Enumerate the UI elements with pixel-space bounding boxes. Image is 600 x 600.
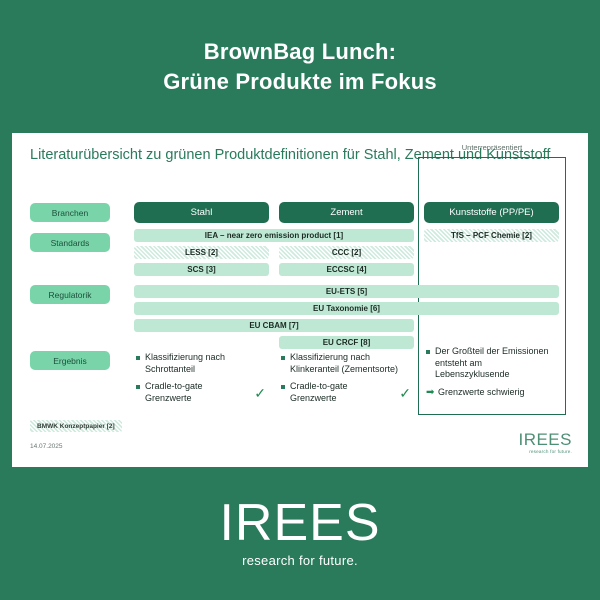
column-header-zement: Zement (279, 202, 414, 223)
slide-corner-logo: IREES research for future. (518, 431, 572, 455)
result-block-zement: Klassifizierung nach Klinkeranteil (Zeme… (281, 352, 411, 410)
result-item: Klassifizierung nach Schrottanteil (136, 352, 266, 375)
row-label-regulatorik: Regulatorik (30, 285, 110, 304)
regulatorik-bar-eu-taxonomie: EU Taxonomie [6] (134, 302, 559, 315)
result-item-text: Cradle-to-gate Grenzwerte (290, 381, 395, 404)
check-icon: ✓ (254, 388, 266, 398)
result-item-text: Cradle-to-gate Grenzwerte (145, 381, 250, 404)
presentation-title-block: BrownBag Lunch: Grüne Produkte im Fokus (0, 0, 600, 133)
check-icon: ✓ (399, 388, 411, 398)
square-bullet-icon (281, 356, 285, 360)
regulatorik-bar-eu-cbam: EU CBAM [7] (134, 319, 414, 332)
brand-logo-mark: IREES (219, 497, 380, 549)
result-item: Klassifizierung nach Klinkeranteil (Zeme… (281, 352, 411, 375)
regulatorik-bar-eu-crcf: EU CRCF [8] (279, 336, 414, 349)
title-line-2: Grüne Produkte im Fokus (163, 67, 437, 97)
column-header-kunststoffe: Kunststoffe (PP/PE) (424, 202, 559, 223)
slide-date: 14.07.2025 (30, 443, 63, 450)
result-block-kunststoffe: Der Großteil der Emissionen entsteht am … (426, 346, 554, 404)
row-label-ergebnis: Ergebnis (30, 351, 110, 370)
result-item: Der Großteil der Emissionen entsteht am … (426, 346, 554, 381)
slide-logo-tagline: research for future. (518, 448, 572, 455)
square-bullet-icon (136, 356, 140, 360)
standards-bar-scs: SCS [3] (134, 263, 269, 276)
result-item: ➡ Grenzwerte schwierig (426, 387, 554, 399)
result-item: Cradle-to-gate Grenzwerte ✓ (136, 381, 266, 404)
standards-bar-less: LESS [2] (134, 246, 269, 259)
square-bullet-icon (136, 385, 140, 389)
row-label-standards: Standards (30, 233, 110, 252)
standards-bar-tfs: TfS – PCF Chemie [2] (424, 229, 559, 242)
square-bullet-icon (281, 385, 285, 389)
row-label-branchen: Branchen (30, 203, 110, 222)
result-item-text: Klassifizierung nach Schrottanteil (145, 352, 266, 375)
result-item-text: Der Großteil der Emissionen entsteht am … (435, 346, 554, 381)
standards-bar-ccc: CCC [2] (279, 246, 414, 259)
arrow-bullet-icon: ➡ (426, 388, 435, 398)
legend-chip-bmwk: BMWK Konzeptpapier [2] (30, 420, 122, 432)
brand-banner: IREES research for future. (0, 467, 600, 600)
result-block-stahl: Klassifizierung nach Schrottanteil Cradl… (136, 352, 266, 410)
standards-bar-eccsc: ECCSC [4] (279, 263, 414, 276)
underrepresented-annotation: Unterrepräsentiert (418, 143, 566, 152)
slide-logo-mark: IREES (518, 431, 572, 448)
column-header-stahl: Stahl (134, 202, 269, 223)
brand-logo-tagline: research for future. (242, 552, 358, 570)
result-item: Cradle-to-gate Grenzwerte ✓ (281, 381, 411, 404)
slide-card: Literaturübersicht zu grünen Produktdefi… (12, 133, 588, 467)
result-item-text: Grenzwerte schwierig (438, 387, 554, 399)
title-line-1: BrownBag Lunch: (204, 37, 396, 67)
standards-bar-iea: IEA – near zero emission product [1] (134, 229, 414, 242)
result-item-text: Klassifizierung nach Klinkeranteil (Zeme… (290, 352, 411, 375)
square-bullet-icon (426, 350, 430, 354)
regulatorik-bar-eu-ets: EU-ETS [5] (134, 285, 559, 298)
